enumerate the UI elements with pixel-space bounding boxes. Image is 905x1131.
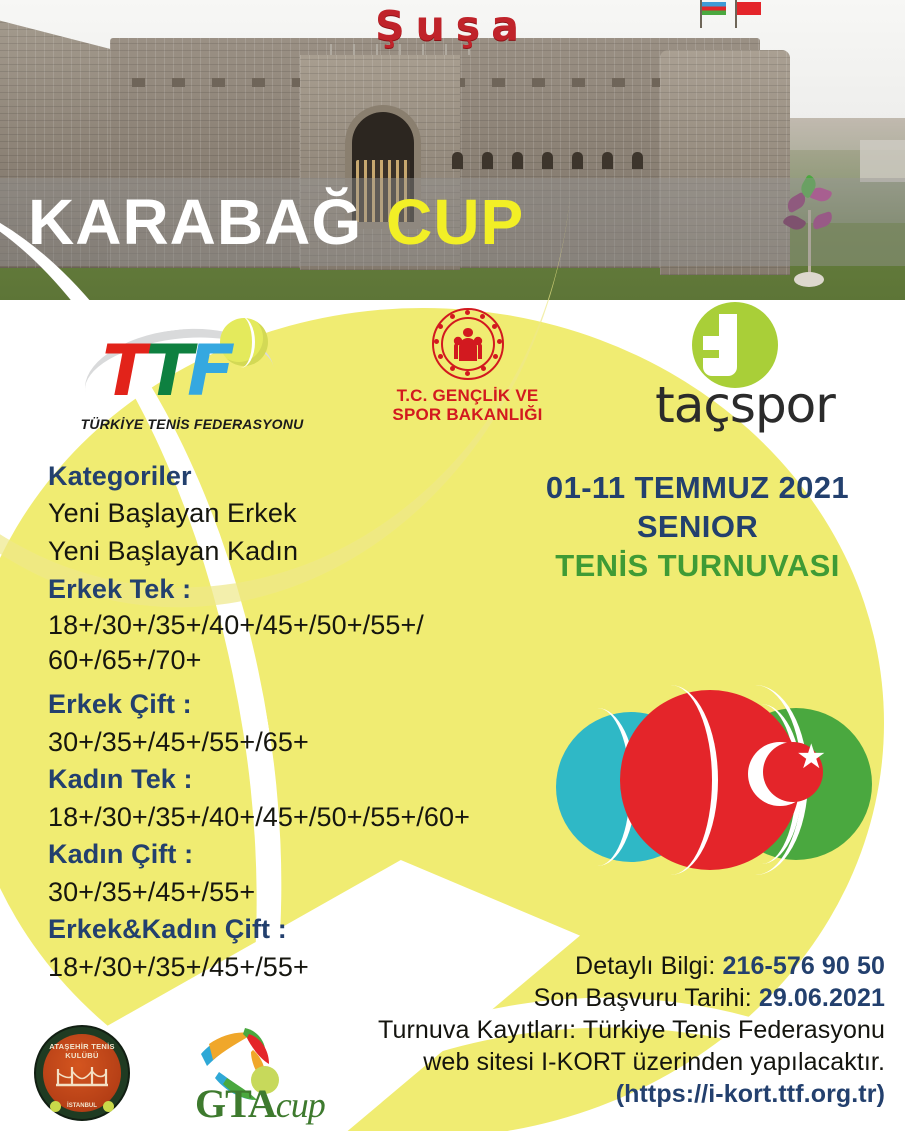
category-intro-1: Yeni Başlayan Erkek — [48, 495, 518, 533]
contact-deadline-row: Son Başvuru Tarihi: 29.06.2021 — [320, 982, 885, 1014]
ministry-emblem-icon — [432, 308, 504, 380]
tacspor-wordmark: taçspor — [622, 380, 868, 430]
ttf-letter-2: T — [145, 330, 187, 412]
contact-block: Detaylı Bilgi: 216-576 90 50 Son Başvuru… — [320, 950, 885, 1110]
sponsor-logos-row: TTF TÜRKİYE TENİS FEDERASYONU — [0, 300, 905, 445]
ministry-logo-label: T.C. GENÇLİK VE SPOR BAKANLIĞI — [360, 386, 575, 424]
poster-root: Şuşa KARABAĞ CUP TTF TÜRKİYE TENİS FEDER… — [0, 0, 905, 1131]
club-name-bottom: İSTANBUL — [34, 1103, 130, 1109]
club-ball-right-icon — [103, 1101, 114, 1112]
distant-building — [860, 140, 905, 182]
category-values-kadin-cift: 30+/35+/45+/55+ — [48, 874, 518, 912]
category-values-erkek-tek-2: 60+/65+/70+ — [48, 643, 518, 678]
gta-word-cup: cup — [276, 1085, 325, 1125]
gtacup-logo: GTAcup — [165, 1020, 340, 1128]
category-label-kadin-cift: Kadın Çift : — [48, 836, 518, 873]
ministry-name-line1: T.C. GENÇLİK VE — [360, 386, 575, 405]
ttf-letter-3: F — [187, 330, 229, 412]
contact-deadline-label: Son Başvuru Tarihi: — [534, 984, 759, 1012]
category-label-erkek-cift: Erkek Çift : — [48, 686, 518, 723]
contact-deadline-date: 29.06.2021 — [759, 984, 885, 1012]
category-label-erkek-kadin-cift: Erkek&Kadın Çift : — [48, 911, 518, 948]
tournament-name: TENİS TURNUVASI — [505, 548, 890, 584]
contact-info-row: Detaylı Bilgi: 216-576 90 50 — [320, 950, 885, 982]
gta-wordmark: GTAcup — [195, 1080, 325, 1127]
tournament-title-block: 01-11 TEMMUZ 2021 SENIOR TENİS TURNUVASI — [505, 470, 890, 584]
category-values-kadin-tek: 18+/30+/35+/40+/45+/50+/55+/60+ — [48, 799, 518, 837]
ministry-name-line2: SPOR BAKANLIĞI — [360, 405, 575, 424]
category-label-erkek-tek: Erkek Tek : — [48, 571, 518, 608]
ttf-monogram: TTF — [102, 336, 229, 406]
club-ball-left-icon — [50, 1101, 61, 1112]
registration-line-1: Turnuva Kayıtları: Türkiye Tenis Federas… — [320, 1014, 885, 1046]
ttf-letter-1: T — [102, 330, 145, 412]
bridge-icon — [56, 1065, 108, 1087]
registration-url[interactable]: (https://i-kort.ttf.org.tr) — [320, 1078, 885, 1110]
ttf-logo: TTF TÜRKİYE TENİS FEDERASYONU — [72, 312, 312, 442]
ttf-logo-label: TÜRKİYE TENİS FEDERASYONU — [72, 416, 312, 432]
category-values-erkek-cift: 30+/35+/45+/55+/65+ — [48, 724, 518, 762]
atasehir-tennis-club-logo: ATAŞEHİR TENİS KULÜBÜ İSTANBUL — [34, 1025, 130, 1121]
tennis-balls-graphic: ★ — [550, 690, 880, 905]
ministry-logo: T.C. GENÇLİK VE SPOR BAKANLIĞI — [360, 308, 575, 443]
tournament-level: SENIOR — [505, 509, 890, 545]
categories-block: Kategoriler Yeni Başlayan Erkek Yeni Baş… — [48, 458, 518, 986]
gta-word-main: GTA — [195, 1081, 276, 1126]
tacspor-logo: taçspor — [630, 302, 860, 442]
tournament-dates: 01-11 TEMMUZ 2021 — [505, 470, 890, 506]
registration-line-2: web sitesi I-KORT üzerinden yapılacaktır… — [320, 1046, 885, 1078]
tennis-ball-red-turkish-flag: ★ — [620, 690, 800, 870]
category-values-erkek-tek-1: 18+/30+/35+/40+/45+/50+/55+/ — [48, 608, 518, 643]
category-label-kadin-tek: Kadın Tek : — [48, 761, 518, 798]
club-name-top: ATAŞEHİR TENİS KULÜBÜ — [34, 1042, 130, 1060]
contact-phone: 216-576 90 50 — [722, 952, 885, 980]
categories-heading: Kategoriler — [48, 458, 518, 495]
tacspor-t-glyph — [719, 314, 737, 376]
category-intro-2: Yeni Başlayan Kadın — [48, 533, 518, 571]
contact-info-label: Detaylı Bilgi: — [575, 952, 722, 980]
